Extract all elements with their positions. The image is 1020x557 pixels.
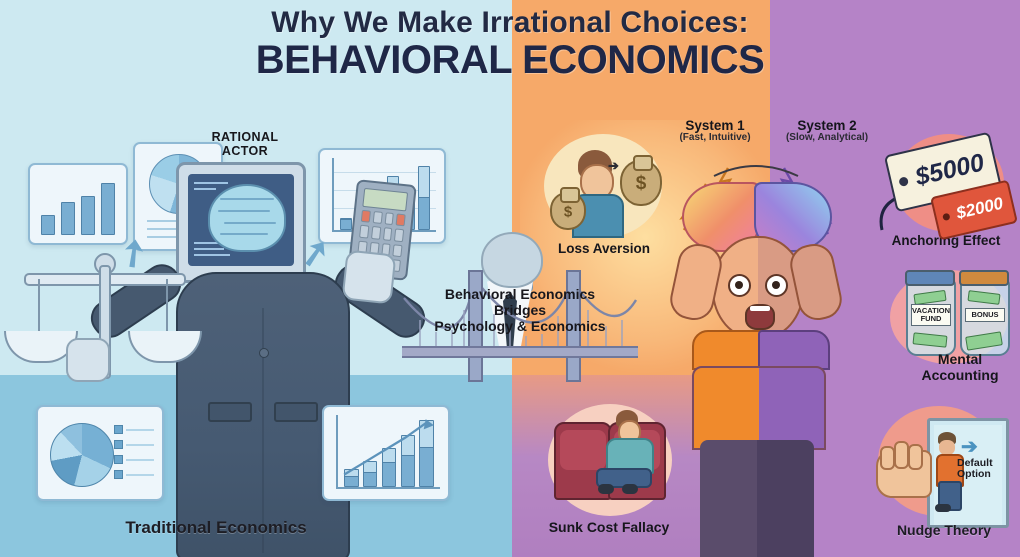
calculator-display xyxy=(362,188,408,211)
person-face xyxy=(712,236,804,340)
monitor xyxy=(176,162,306,283)
jar-label-bonus: BONUS xyxy=(965,308,1005,322)
split-person-lower-body xyxy=(692,366,826,450)
calculator-key xyxy=(371,226,381,239)
calculator-key xyxy=(394,229,404,242)
screen-text-line xyxy=(194,254,230,256)
chart-axes xyxy=(336,415,440,489)
bar-chart-small xyxy=(30,165,126,243)
cash xyxy=(913,290,946,305)
person-head xyxy=(939,440,955,455)
concept-label-loss-aversion: Loss Aversion xyxy=(536,242,672,257)
money-bag-icon: $ xyxy=(620,160,662,206)
concept-label-sunk-cost-fallacy: Sunk Cost Fallacy xyxy=(534,520,684,535)
trendline xyxy=(338,415,440,487)
chart-card-growth xyxy=(322,405,450,501)
split-person-trousers xyxy=(700,440,814,557)
calculator-key xyxy=(384,212,394,225)
eye-left xyxy=(728,274,751,297)
scale-string xyxy=(166,279,168,331)
concept-label-line1: Mental xyxy=(900,352,1020,368)
system-2-label: System 2 (Slow, Analytical) xyxy=(772,118,882,143)
cash xyxy=(967,290,1000,305)
bar xyxy=(81,196,95,235)
screen-text-line xyxy=(194,182,228,184)
bar xyxy=(41,215,55,235)
title-block: Why We Make Irrational Choices: BEHAVIOR… xyxy=(0,6,1020,83)
bar xyxy=(101,183,115,235)
concept-label-nudge-theory: Nudge Theory xyxy=(874,522,1014,538)
calculator-key xyxy=(382,227,392,240)
calculator-key xyxy=(359,225,369,238)
bridge-text-line2: Bridges xyxy=(408,302,632,318)
dollar-symbol: $ xyxy=(552,203,584,220)
calculator-key xyxy=(393,244,403,257)
jar-label-line2: FUND xyxy=(912,315,950,323)
torso-system-2 xyxy=(758,330,830,370)
person-shoe xyxy=(598,484,614,494)
rational-actor-label-line1: RATIONAL xyxy=(180,130,310,144)
pie-legend xyxy=(114,425,154,479)
system-2-subtitle: (Slow, Analytical) xyxy=(772,132,882,143)
page-title-line2: BEHAVIORAL ECONOMICS xyxy=(0,38,1020,83)
scale-string xyxy=(38,279,40,331)
money-bag-icon: $ xyxy=(550,192,586,230)
cash xyxy=(965,331,1003,350)
mouth xyxy=(745,304,775,330)
default-option-label: Default Option xyxy=(957,458,1009,480)
money-bag-neck xyxy=(633,155,653,171)
bridge-text-line3: Psychology & Economics xyxy=(408,318,632,334)
screen-text-line xyxy=(194,248,224,250)
infographic-poster: Why We Make Irrational Choices: BEHAVIOR… xyxy=(0,0,1020,557)
jar-label-vacation-fund: VACATION FUND xyxy=(911,304,951,326)
person-shoe xyxy=(935,504,951,512)
brain-icon xyxy=(208,184,286,252)
businessman-hand-left xyxy=(66,338,110,382)
bridge-text-line1: Behavioral Economics xyxy=(408,286,632,302)
rational-actor-label: RATIONAL ACTOR xyxy=(180,130,310,159)
torso-system-1 xyxy=(692,330,764,370)
chart-card-bars-small xyxy=(28,163,128,245)
arrow-right-icon: ➔ xyxy=(961,434,978,459)
bridge-text: Behavioral Economics Bridges Psychology … xyxy=(408,286,632,334)
person-shoe xyxy=(622,484,638,494)
arrow-right-icon: ➔ xyxy=(608,158,619,174)
cash xyxy=(912,332,947,347)
traditional-economics-caption: Traditional Economics xyxy=(46,518,386,538)
bridge-deck xyxy=(402,346,638,358)
concept-sunk-cost-fallacy: Sunk Cost Fallacy xyxy=(534,404,684,552)
page-title-line1: Why We Make Irrational Choices: xyxy=(0,6,1020,40)
system-1-label: System 1 (Fast, Intuitive) xyxy=(662,118,768,143)
calculator-key xyxy=(361,210,371,223)
monitor-screen xyxy=(188,174,294,266)
hand-icon xyxy=(876,450,932,498)
system-2-title: System 2 xyxy=(772,118,882,133)
money-bag-neck xyxy=(560,187,580,203)
businessman-hand-right xyxy=(342,250,397,305)
bar xyxy=(340,218,352,230)
calculator-key xyxy=(396,213,406,226)
dollar-symbol: $ xyxy=(622,173,660,195)
bar xyxy=(61,202,75,235)
rational-actor-label-line2: ACTOR xyxy=(180,144,310,158)
default-option-line2: Option xyxy=(957,469,1009,480)
concept-loss-aversion: $ $ ➔ Loss Aversion xyxy=(536,134,672,262)
concept-label-line2: Accounting xyxy=(900,368,1020,384)
system-1-subtitle: (Fast, Intuitive) xyxy=(662,132,768,143)
calculator-key xyxy=(372,211,382,224)
eye-right xyxy=(765,274,788,297)
jar-vacation-fund: VACATION FUND xyxy=(906,278,956,356)
pie-chart-legend xyxy=(50,423,114,487)
split-brain-person xyxy=(666,160,846,360)
concept-label-mental-accounting: Mental Accounting xyxy=(900,352,1020,383)
jar-lid xyxy=(905,270,955,286)
bar xyxy=(418,166,430,230)
system-1-title: System 1 xyxy=(662,118,768,133)
chart-card-pie-legend xyxy=(36,405,164,501)
jar-bonus: BONUS xyxy=(960,278,1010,356)
jar-lid xyxy=(959,270,1009,286)
screen-text-line xyxy=(194,188,216,190)
price-low-value: $2000 xyxy=(935,192,1014,229)
